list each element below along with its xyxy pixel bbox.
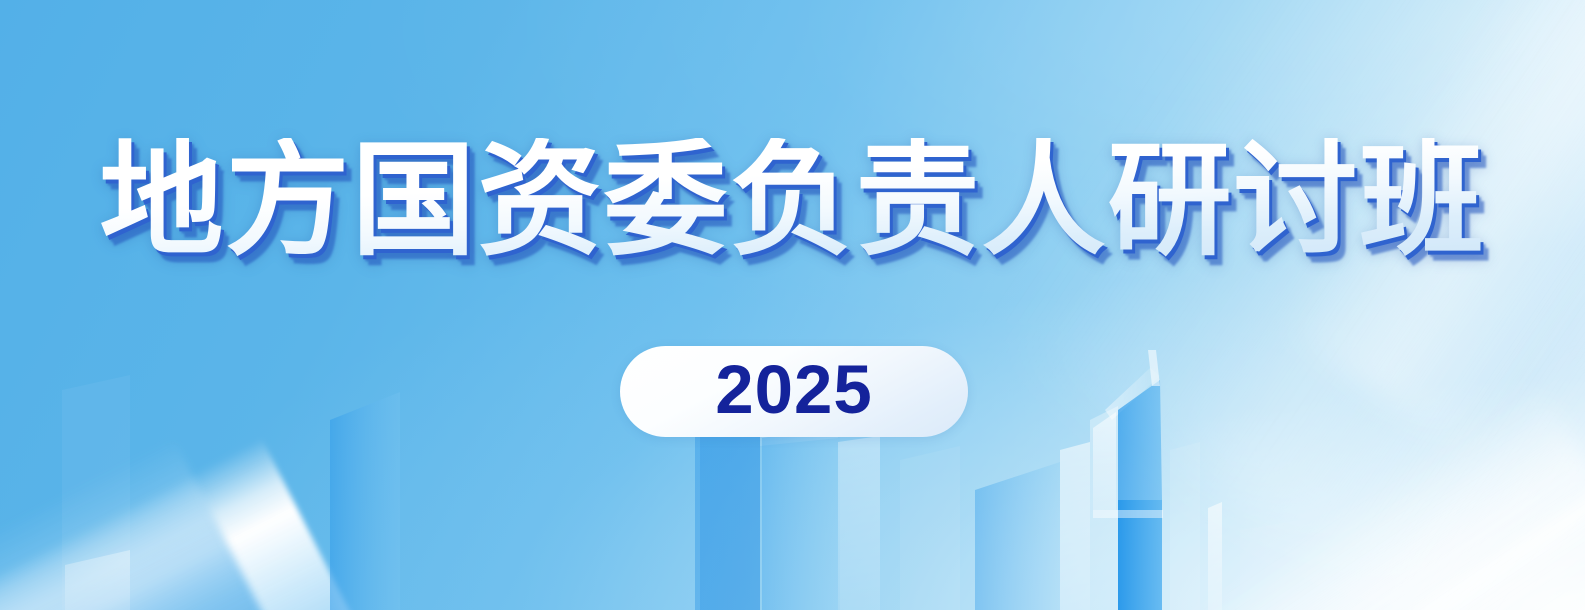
light-wedge-bottom-left-icon xyxy=(0,379,368,610)
light-wedge-bottom-left-deep-icon xyxy=(0,438,310,610)
light-streak-bottom-right-icon xyxy=(1146,340,1585,610)
light-streak-bottom-right-soft-icon xyxy=(1191,388,1585,610)
banner-title-wrap: 地方国资委负责人研讨班 xyxy=(0,138,1585,264)
year-badge-label: 2025 xyxy=(715,355,873,428)
light-streak-top-right-icon xyxy=(1000,0,1585,610)
banner-hero: 地方国资委负责人研讨班 2025 xyxy=(0,0,1585,610)
year-badge: 2025 xyxy=(620,346,968,437)
banner-title: 地方国资委负责人研讨班 xyxy=(99,138,1485,264)
